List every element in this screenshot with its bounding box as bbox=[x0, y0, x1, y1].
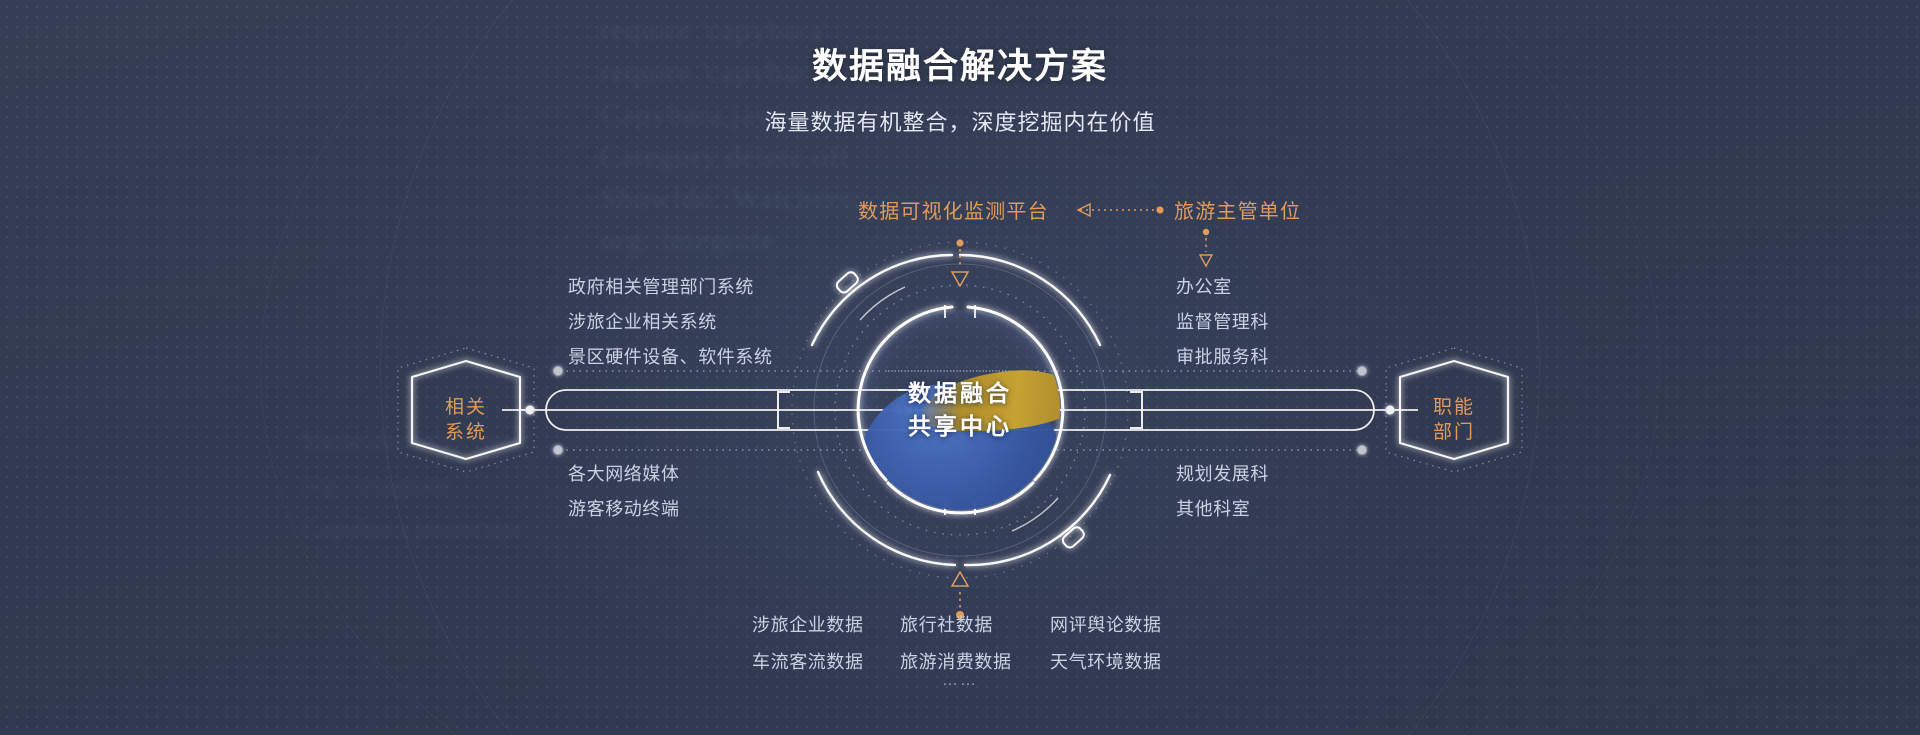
center-label-line1: 数据融合 bbox=[908, 377, 1012, 410]
left-source-item-2: 景区硬件设备、软件系统 bbox=[568, 346, 773, 368]
label-data-visualization-platform: 数据可视化监测平台 bbox=[858, 198, 1049, 226]
label-tourism-authority: 旅游主管单位 bbox=[1174, 198, 1301, 226]
bottom-data-col3-item1: 天气环境数据 bbox=[1050, 651, 1162, 673]
bottom-data-col3-item0: 网评舆论数据 bbox=[1050, 614, 1162, 636]
right-department-item-1: 监督管理科 bbox=[1176, 311, 1269, 333]
bottom-data-col2-item1: 旅游消费数据 bbox=[900, 651, 1012, 673]
right-department-item-2: 审批服务科 bbox=[1176, 346, 1269, 368]
center-label: 数据融合 共享中心 bbox=[860, 310, 1060, 510]
right-department-item-0: 办公室 bbox=[1176, 276, 1232, 298]
page-title: 数据融合解决方案 bbox=[0, 38, 1920, 89]
bottom-data-col2-item0: 旅行社数据 bbox=[900, 614, 993, 636]
left-source-item-4: 游客移动终端 bbox=[568, 498, 680, 520]
bottom-data-col1-item0: 涉旅企业数据 bbox=[752, 614, 864, 636]
bottom-orange-connector bbox=[952, 572, 968, 619]
page-subtitle: 海量数据有机整合，深度挖掘内在价值 bbox=[0, 105, 1920, 137]
code-watermark-bottom: Showldo::Watchers:: org::integrate Capyb… bbox=[300, 420, 920, 552]
data-fusion-solution-infographic: require 'capybara' require 'capybara/rsp… bbox=[0, 0, 1920, 735]
center-label-line2: 共享中心 bbox=[908, 410, 1012, 443]
right-department-item-3: 规划发展科 bbox=[1176, 463, 1269, 485]
node-functional-departments[interactable]: 职能 部门 bbox=[1400, 361, 1508, 479]
left-source-item-3: 各大网络媒体 bbox=[568, 463, 680, 485]
bottom-data-col1-item1: 车流客流数据 bbox=[752, 651, 864, 673]
bottom-data-ellipsis: …… bbox=[0, 672, 1920, 690]
node-related-systems[interactable]: 相关 系统 bbox=[412, 361, 520, 479]
left-source-item-1: 涉旅企业相关系统 bbox=[568, 311, 717, 333]
node-related-systems-line1: 相关 bbox=[445, 395, 487, 420]
node-functional-departments-line2: 部门 bbox=[1433, 420, 1475, 445]
left-source-item-0: 政府相关管理部门系统 bbox=[568, 276, 754, 298]
right-department-item-4: 其他科室 bbox=[1176, 498, 1250, 520]
node-related-systems-line2: 系统 bbox=[445, 420, 487, 445]
node-functional-departments-line1: 职能 bbox=[1433, 395, 1475, 420]
